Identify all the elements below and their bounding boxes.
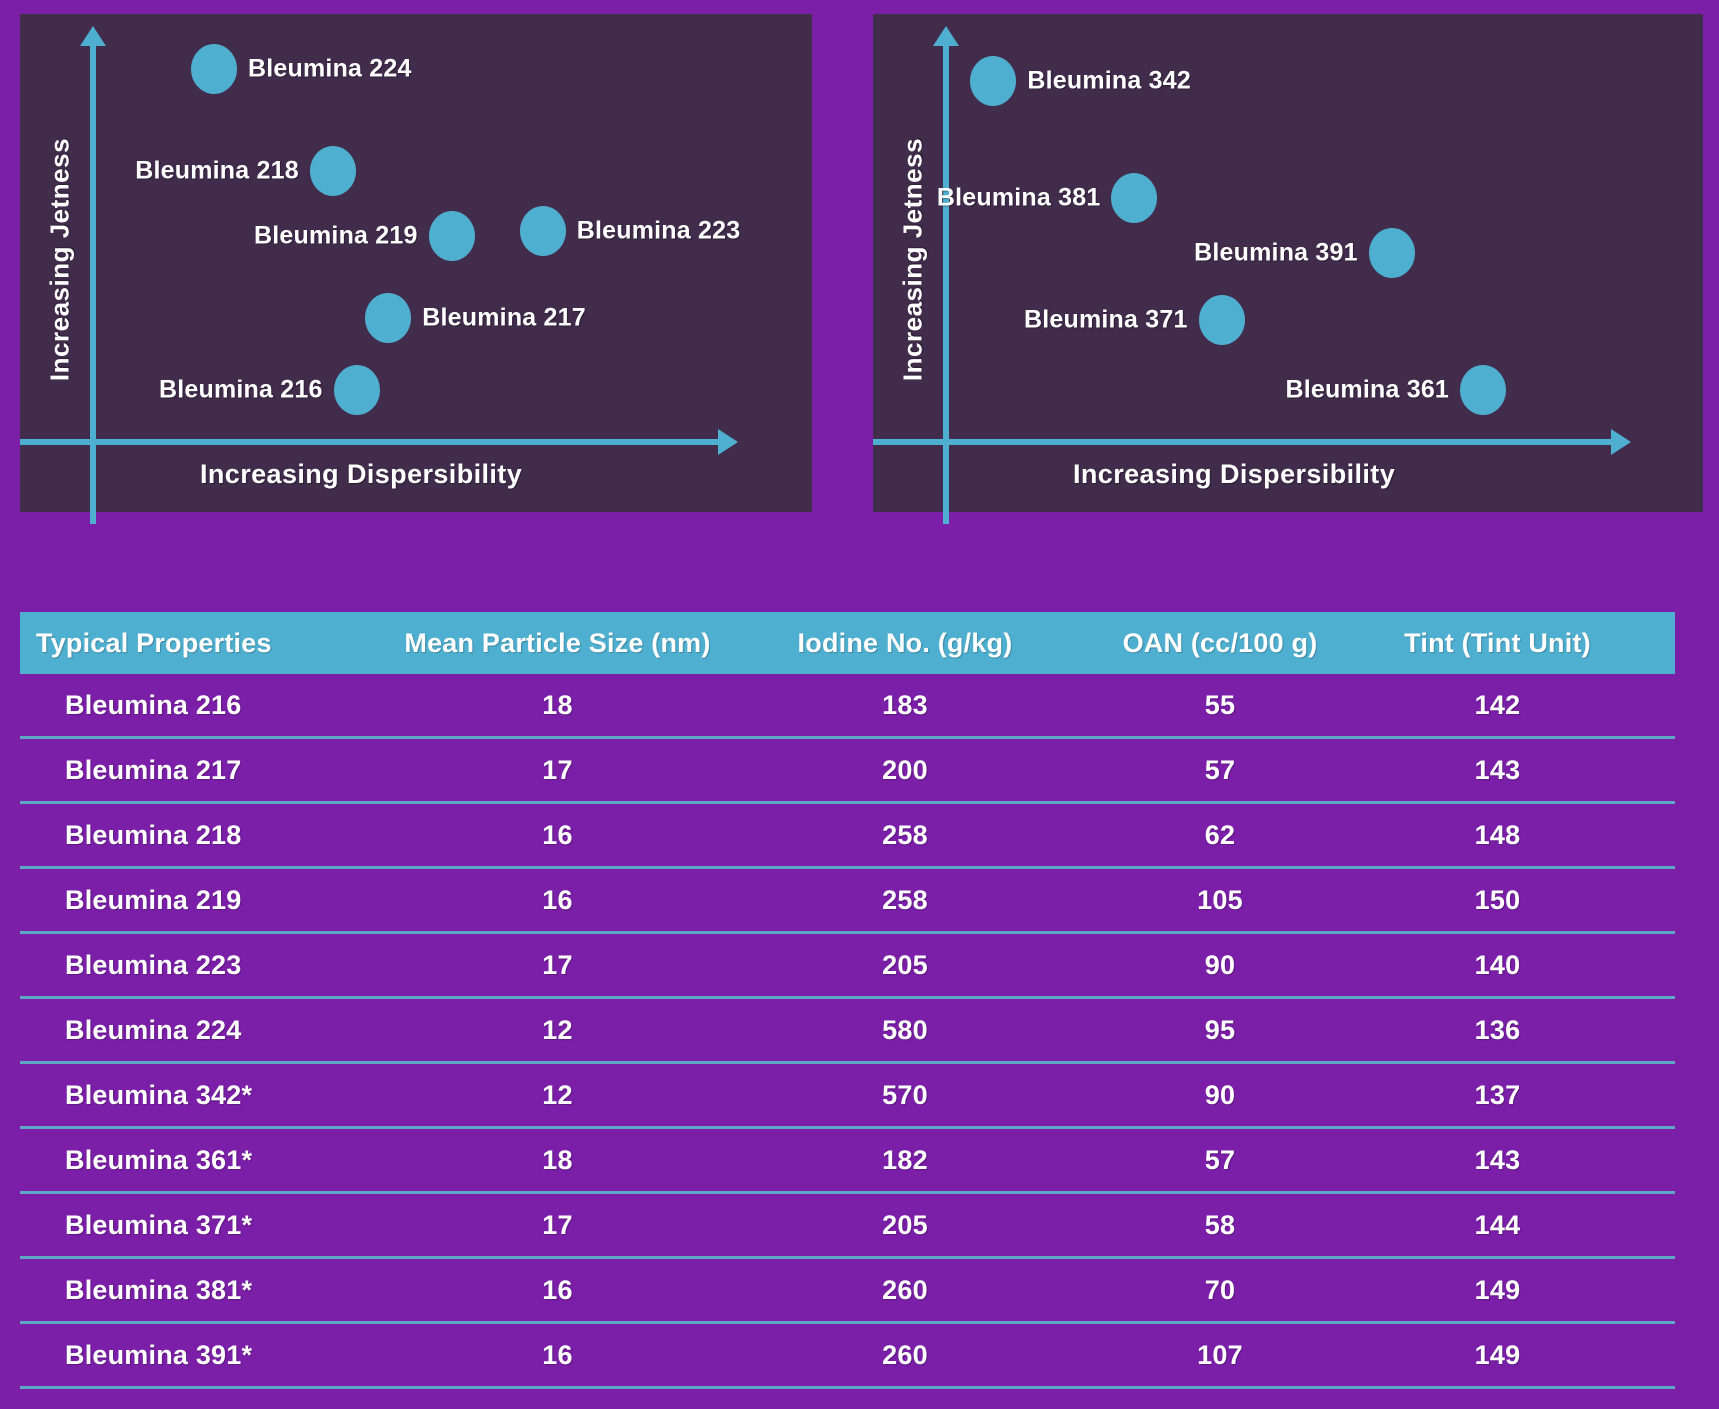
table-cell-value: 136: [1380, 1015, 1615, 1046]
table-row: Bleumina 2241258095136: [20, 999, 1675, 1064]
scatter-chart-panel-left: Increasing Jetness Increasing Dispersibi…: [20, 14, 812, 512]
table-cell-value: 58: [1060, 1210, 1380, 1241]
table-cell-value: 580: [750, 1015, 1060, 1046]
table-cell-value: 55: [1060, 690, 1380, 721]
table-cell-value: 17: [365, 755, 750, 786]
table-row: Bleumina 371*1720558144: [20, 1194, 1675, 1259]
data-point-label: Bleumina 391: [1194, 239, 1358, 268]
data-point-label: Bleumina 224: [248, 54, 412, 83]
table-cell-value: 258: [750, 885, 1060, 916]
x-axis-label: Increasing Dispersibility: [1073, 459, 1395, 490]
table-cell-product-name: Bleumina 224: [20, 1015, 365, 1046]
table-cell-value: 182: [750, 1145, 1060, 1176]
table-row: Bleumina 381*1626070149: [20, 1259, 1675, 1324]
table-cell-value: 149: [1380, 1275, 1615, 1306]
table-cell-product-name: Bleumina 223: [20, 950, 365, 981]
data-point-bubble: [1369, 228, 1415, 278]
table-cell-value: 144: [1380, 1210, 1615, 1241]
table-cell-value: 62: [1060, 820, 1380, 851]
data-point-bubble: [365, 293, 411, 343]
table-column-header: Iodine No. (g/kg): [750, 628, 1060, 659]
table-cell-value: 205: [750, 1210, 1060, 1241]
table-cell-value: 16: [365, 820, 750, 851]
table-cell-product-name: Bleumina 391*: [20, 1340, 365, 1371]
table-cell-value: 70: [1060, 1275, 1380, 1306]
data-point-bubble: [1111, 173, 1157, 223]
data-point-label: Bleumina 223: [577, 216, 741, 245]
table-cell-value: 148: [1380, 820, 1615, 851]
data-point-bubble: [429, 211, 475, 261]
table-cell-value: 142: [1380, 690, 1615, 721]
data-point-label: Bleumina 217: [422, 303, 586, 332]
table-cell-value: 57: [1060, 1145, 1380, 1176]
table-row: Bleumina 2171720057143: [20, 739, 1675, 804]
table-cell-value: 205: [750, 950, 1060, 981]
table-row: Bleumina 2181625862148: [20, 804, 1675, 869]
table-row: Bleumina 342*1257090137: [20, 1064, 1675, 1129]
y-axis-label: Increasing Jetness: [45, 135, 76, 385]
table-cell-product-name: Bleumina 371*: [20, 1210, 365, 1241]
table-column-header: Tint (Tint Unit): [1380, 628, 1615, 659]
table-cell-value: 95: [1060, 1015, 1380, 1046]
table-row: Bleumina 2161818355142: [20, 674, 1675, 739]
y-axis-label: Increasing Jetness: [898, 135, 929, 385]
product-comparison-infographic: Increasing Jetness Increasing Dispersibi…: [0, 0, 1719, 1409]
chart-plot-area-left: Increasing Jetness Increasing Dispersibi…: [20, 14, 812, 512]
data-point-bubble: [334, 365, 380, 415]
table-cell-product-name: Bleumina 219: [20, 885, 365, 916]
table-column-header: Mean Particle Size (nm): [365, 628, 750, 659]
x-axis-arrow-icon: [718, 429, 738, 455]
data-point-label: Bleumina 361: [1285, 375, 1449, 404]
data-point-bubble: [1199, 295, 1245, 345]
table-cell-value: 570: [750, 1080, 1060, 1111]
table-cell-value: 143: [1380, 755, 1615, 786]
table-header-row: Typical PropertiesMean Particle Size (nm…: [20, 612, 1675, 674]
table-row: Bleumina 2231720590140: [20, 934, 1675, 999]
table-cell-value: 18: [365, 1145, 750, 1176]
table-cell-value: 90: [1060, 1080, 1380, 1111]
table-column-header: Typical Properties: [20, 628, 365, 659]
table-row: Bleumina 361*1818257143: [20, 1129, 1675, 1194]
y-axis-line: [943, 44, 949, 524]
table-cell-value: 258: [750, 820, 1060, 851]
table-cell-value: 183: [750, 690, 1060, 721]
data-point-bubble: [310, 146, 356, 196]
table-cell-value: 16: [365, 1275, 750, 1306]
table-cell-product-name: Bleumina 342*: [20, 1080, 365, 1111]
table-cell-value: 107: [1060, 1340, 1380, 1371]
table-cell-value: 105: [1060, 885, 1380, 916]
table-row: Bleumina 21916258105150: [20, 869, 1675, 934]
scatter-chart-panel-right: Increasing Jetness Increasing Dispersibi…: [873, 14, 1703, 512]
data-point-bubble: [970, 56, 1016, 106]
x-axis-arrow-icon: [1611, 429, 1631, 455]
table-cell-value: 16: [365, 1340, 750, 1371]
table-cell-value: 16: [365, 885, 750, 916]
table-cell-value: 17: [365, 1210, 750, 1241]
data-point-label: Bleumina 219: [254, 221, 418, 250]
y-axis-arrow-icon: [933, 26, 959, 46]
data-point-bubble: [191, 44, 237, 94]
table-row: Bleumina 391*16260107149: [20, 1324, 1675, 1389]
table-cell-value: 140: [1380, 950, 1615, 981]
table-cell-value: 18: [365, 690, 750, 721]
table-cell-value: 143: [1380, 1145, 1615, 1176]
data-point-label: Bleumina 381: [937, 184, 1101, 213]
x-axis-label: Increasing Dispersibility: [200, 459, 522, 490]
typical-properties-table: Typical PropertiesMean Particle Size (nm…: [20, 612, 1675, 1389]
table-cell-product-name: Bleumina 217: [20, 755, 365, 786]
data-point-label: Bleumina 216: [159, 375, 323, 404]
y-axis-arrow-icon: [80, 26, 106, 46]
table-cell-value: 90: [1060, 950, 1380, 981]
x-axis-line: [873, 439, 1613, 445]
data-point-label: Bleumina 371: [1024, 306, 1188, 335]
table-cell-value: 12: [365, 1080, 750, 1111]
table-cell-value: 149: [1380, 1340, 1615, 1371]
chart-plot-area-right: Increasing Jetness Increasing Dispersibi…: [873, 14, 1703, 512]
table-cell-value: 150: [1380, 885, 1615, 916]
data-point-label: Bleumina 342: [1027, 67, 1191, 96]
table-cell-value: 200: [750, 755, 1060, 786]
table-cell-value: 260: [750, 1275, 1060, 1306]
table-cell-product-name: Bleumina 218: [20, 820, 365, 851]
table-cell-product-name: Bleumina 381*: [20, 1275, 365, 1306]
x-axis-line: [20, 439, 720, 445]
table-cell-product-name: Bleumina 216: [20, 690, 365, 721]
table-cell-value: 137: [1380, 1080, 1615, 1111]
y-axis-line: [90, 44, 96, 524]
table-cell-product-name: Bleumina 361*: [20, 1145, 365, 1176]
table-cell-value: 17: [365, 950, 750, 981]
table-column-header: OAN (cc/100 g): [1060, 628, 1380, 659]
data-point-bubble: [520, 206, 566, 256]
data-point-bubble: [1460, 365, 1506, 415]
table-cell-value: 260: [750, 1340, 1060, 1371]
table-body: Bleumina 2161818355142Bleumina 217172005…: [20, 674, 1675, 1389]
table-cell-value: 12: [365, 1015, 750, 1046]
table-cell-value: 57: [1060, 755, 1380, 786]
data-point-label: Bleumina 218: [135, 156, 299, 185]
